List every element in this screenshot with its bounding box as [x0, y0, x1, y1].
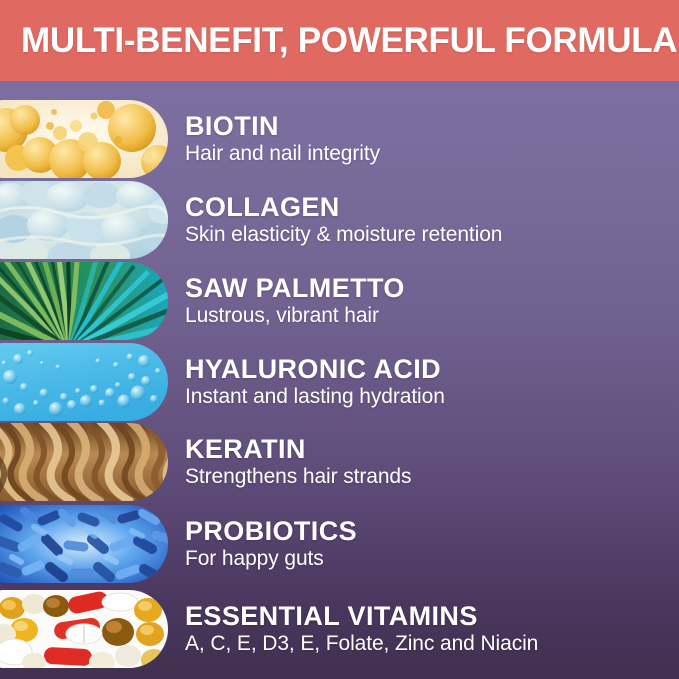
blue-water-droplets-photo — [0, 343, 168, 421]
assorted-pills-capsules-photo — [0, 590, 168, 668]
ingredient-text-saw-palmetto: SAW PALMETTO Lustrous, vibrant hair — [185, 262, 679, 340]
ingredient-desc: Skin elasticity & moisture retention — [185, 222, 679, 247]
ingredient-desc: Strengthens hair strands — [185, 464, 679, 489]
ingredient-name: BIOTIN — [185, 112, 679, 141]
green-palm-frond-photo — [0, 262, 168, 340]
blue-bacteria-microscope-photo — [0, 505, 168, 583]
ingredient-text-essential-vitamins: ESSENTIAL VITAMINS A, C, E, D3, E, Folat… — [185, 590, 679, 668]
ingredient-desc: Hair and nail integrity — [185, 141, 679, 166]
ingredient-text-probiotics: PROBIOTICS For happy guts — [185, 505, 679, 583]
ingredient-name: HYALURONIC ACID — [185, 355, 679, 384]
ingredient-row-saw-palmetto: SAW PALMETTO Lustrous, vibrant hair — [0, 262, 679, 340]
ingredient-desc: A, C, E, D3, E, Folate, Zinc and Niacin — [185, 631, 679, 656]
ingredient-text-keratin: KERATIN Strengthens hair strands — [185, 423, 679, 501]
ingredient-name: KERATIN — [185, 435, 679, 464]
ingredient-text-collagen: COLLAGEN Skin elasticity & moisture rete… — [185, 181, 679, 259]
header-banner: MULTI-BENEFIT, POWERFUL FORMULA — [0, 0, 679, 81]
ingredient-row-hyaluronic-acid: HYALURONIC ACID Instant and lasting hydr… — [0, 343, 679, 421]
ingredient-row-probiotics: PROBIOTICS For happy guts — [0, 505, 679, 583]
ingredient-infographic: MULTI-BENEFIT, POWERFUL FORMULA — [0, 0, 679, 679]
banner-title: MULTI-BENEFIT, POWERFUL FORMULA — [0, 23, 677, 59]
ingredient-text-biotin: BIOTIN Hair and nail integrity — [185, 100, 679, 178]
golden-oil-bubbles-photo — [0, 100, 168, 178]
ingredient-desc: For happy guts — [185, 546, 679, 571]
ingredient-desc: Lustrous, vibrant hair — [185, 303, 679, 328]
ingredient-row-collagen: COLLAGEN Skin elasticity & moisture rete… — [0, 181, 679, 259]
ingredient-name: ESSENTIAL VITAMINS — [185, 602, 679, 631]
ingredient-list: BIOTIN Hair and nail integrity — [0, 81, 679, 679]
ingredient-name: SAW PALMETTO — [185, 274, 679, 303]
ingredient-row-keratin: KERATIN Strengthens hair strands — [0, 423, 679, 501]
ingredient-row-biotin: BIOTIN Hair and nail integrity — [0, 100, 679, 178]
brown-wavy-hair-photo — [0, 423, 168, 501]
blue-gel-texture-photo — [0, 181, 168, 259]
ingredient-name: COLLAGEN — [185, 193, 679, 222]
ingredient-text-hyaluronic-acid: HYALURONIC ACID Instant and lasting hydr… — [185, 343, 679, 421]
ingredient-row-essential-vitamins: ESSENTIAL VITAMINS A, C, E, D3, E, Folat… — [0, 590, 679, 668]
ingredient-desc: Instant and lasting hydration — [185, 384, 679, 409]
ingredient-name: PROBIOTICS — [185, 517, 679, 546]
